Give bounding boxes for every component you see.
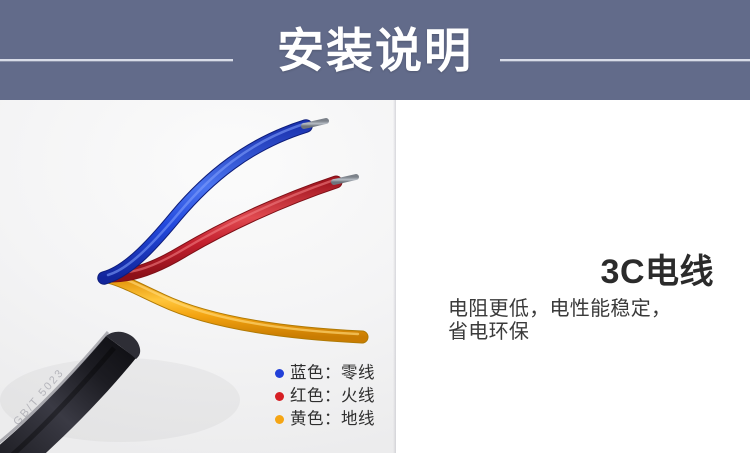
legend-item-yellow: 黄色：地线 <box>274 408 392 431</box>
blue-dot-icon <box>275 369 284 378</box>
legend-label-blue: 蓝色：零线 <box>290 362 375 385</box>
product-copy-panel: 3C电线 电阻更低，电性能稳定， 省电环保 <box>396 100 750 453</box>
legend-label-yellow: 黄色：地线 <box>290 408 375 431</box>
product-subcopy-line-2: 省电环保 <box>448 321 748 344</box>
red-dot-icon <box>275 392 284 401</box>
yellow-dot-icon <box>275 415 284 424</box>
wire-color-legend: 蓝色：零线 红色：火线 黄色：地线 <box>274 362 392 431</box>
legend-item-blue: 蓝色：零线 <box>274 362 392 385</box>
legend-item-red: 红色：火线 <box>274 385 392 408</box>
red-wire <box>112 182 336 276</box>
product-headline: 3C电线 <box>396 252 714 292</box>
page-header-banner: 安装说明 <box>0 0 750 100</box>
product-subcopy-line-1: 电阻更低，电性能稳定， <box>448 298 748 321</box>
product-subcopy: 电阻更低，电性能稳定， 省电环保 <box>448 298 748 344</box>
installation-instructions-page: 安装说明 <box>0 0 750 453</box>
legend-label-red: 红色：火线 <box>290 385 375 408</box>
page-title: 安装说明 <box>0 21 750 81</box>
